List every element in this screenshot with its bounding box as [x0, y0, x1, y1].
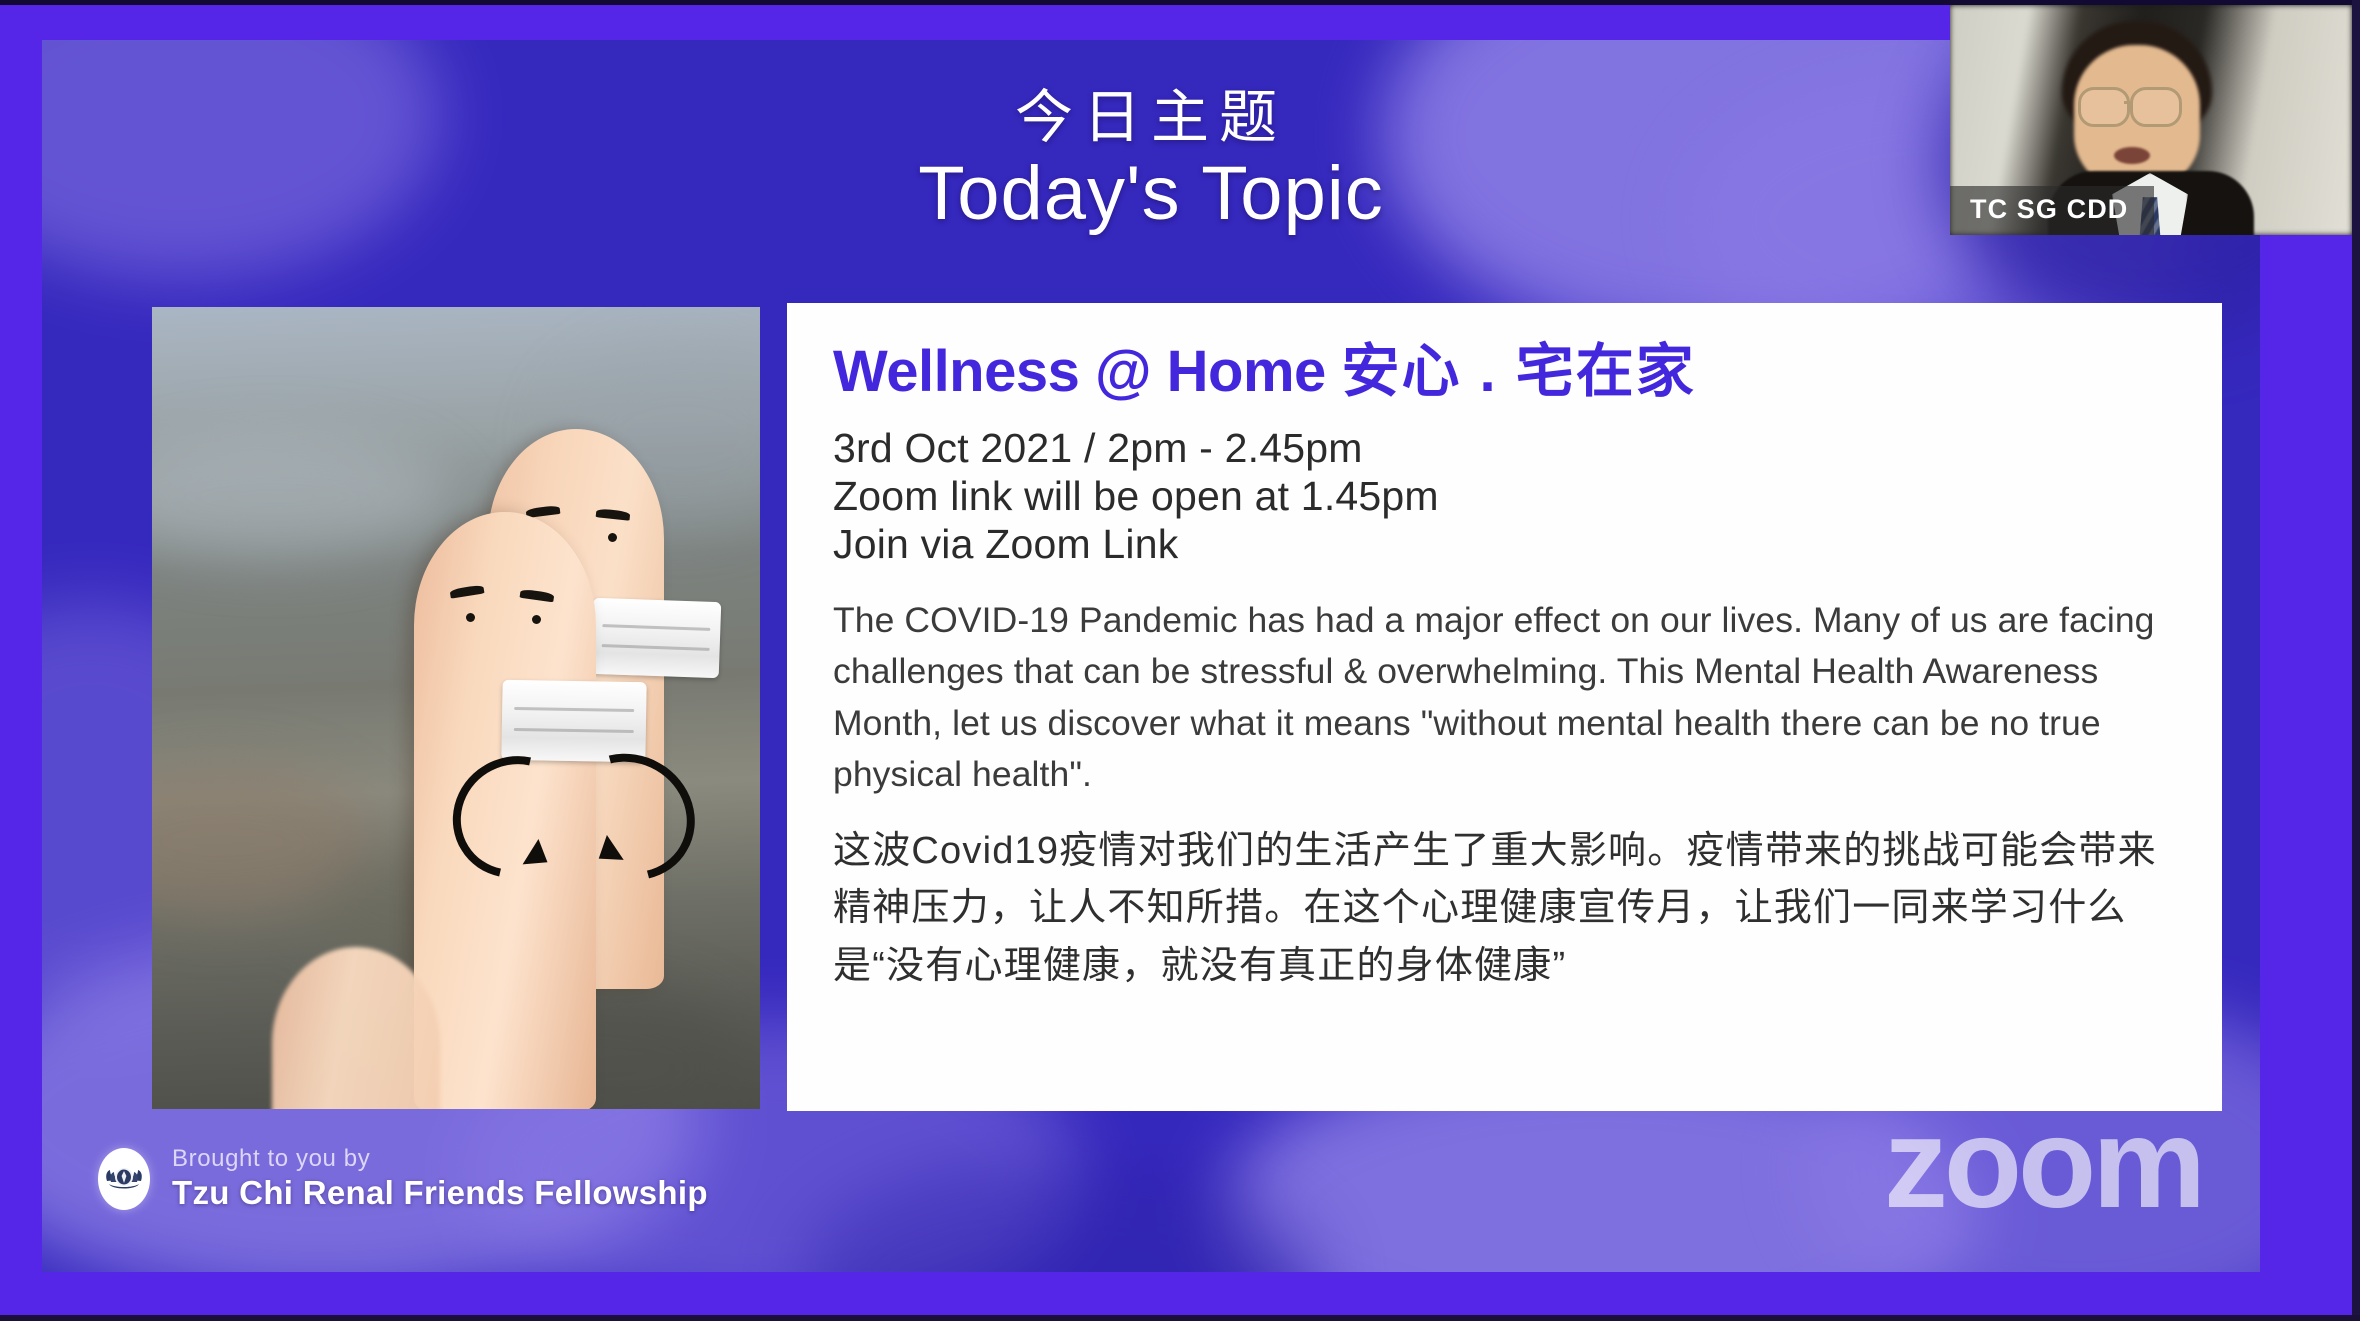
event-details-card: Wellness @ Home 安心 . 宅在家 3rd Oct 2021 / … — [787, 303, 2222, 1111]
mouth — [2114, 147, 2150, 164]
right-edge-bar — [2352, 0, 2360, 1321]
event-link-open-time: Zoom link will be open at 1.45pm — [833, 472, 2196, 520]
zoom-meeting-screen: 今日主题 Today's Topic — [0, 0, 2360, 1321]
eye-right-front — [532, 615, 541, 624]
event-title-english: Wellness @ Home — [833, 339, 1326, 404]
eye-right-back — [608, 533, 617, 542]
zoom-watermark: zoom — [1884, 1100, 2202, 1228]
slide-title-chinese: 今日主题 — [42, 88, 2260, 149]
event-description-english: The COVID-19 Pandemic has had a major ef… — [833, 595, 2196, 801]
organization-name: Tzu Chi Renal Friends Fellowship — [172, 1175, 708, 1212]
fingers-photo — [152, 307, 760, 1109]
shared-slide: 今日主题 Today's Topic — [42, 40, 2260, 1272]
slide-title-english: Today's Topic — [42, 149, 2260, 239]
slide-heading: 今日主题 Today's Topic — [42, 88, 2260, 239]
glasses-bridge — [2124, 101, 2132, 104]
brought-to-you-by-label: Brought to you by — [172, 1146, 708, 1173]
participant-video-tile[interactable]: TC SG CDD — [1950, 5, 2352, 235]
face-mask-back — [591, 598, 722, 678]
glasses-lens-left — [2078, 87, 2130, 127]
event-datetime: 3rd Oct 2021 / 2pm - 2.45pm — [833, 424, 2196, 472]
footer-text-block: Brought to you by Tzu Chi Renal Friends … — [172, 1146, 708, 1212]
event-meta-block: 3rd Oct 2021 / 2pm - 2.45pm Zoom link wi… — [833, 424, 2196, 569]
cloud-decoration — [802, 1160, 1322, 1272]
bottom-edge-bar — [0, 1315, 2360, 1321]
event-join-instruction: Join via Zoom Link — [833, 520, 2196, 568]
footer-branding: Brought to you by Tzu Chi Renal Friends … — [98, 1146, 708, 1212]
event-description-chinese: 这波Covid19疫情对我们的生活产生了重大影响。疫情带来的挑战可能会带来精神压… — [833, 823, 2196, 996]
participant-name-label: TC SG CDD — [1950, 186, 2154, 235]
event-title-chinese: 安心 . 宅在家 — [1341, 339, 1695, 404]
event-title: Wellness @ Home 安心 . 宅在家 — [833, 341, 2196, 404]
face-mask-front — [501, 680, 646, 763]
glasses-lens-right — [2130, 87, 2182, 127]
tzu-chi-lotus-logo — [98, 1148, 150, 1210]
eye-left-front — [466, 613, 475, 622]
